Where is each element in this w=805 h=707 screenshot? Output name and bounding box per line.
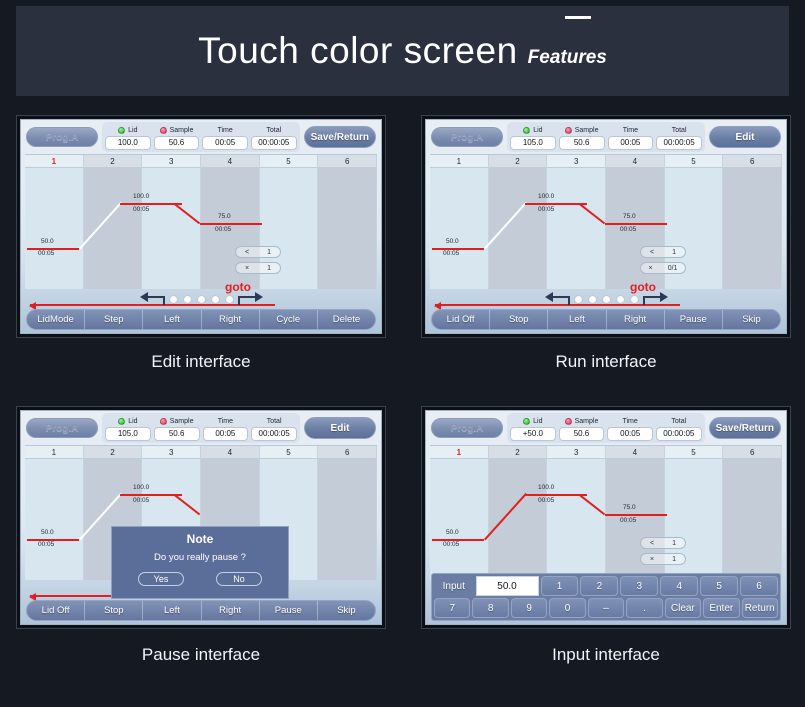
key-2[interactable]: 2	[580, 576, 618, 596]
meter-value[interactable]: 100.0	[105, 136, 151, 150]
meter-total: Total 00:00:05	[251, 416, 297, 441]
meter-label: Lid	[128, 127, 137, 134]
meter-sample: Sample 50.6	[154, 125, 200, 150]
step-column-6[interactable]: 6	[723, 155, 782, 289]
arrow-right-return-icon[interactable]	[238, 292, 264, 306]
page-dot[interactable]	[184, 296, 191, 303]
dialog-message: Do you really pause ?	[154, 552, 246, 563]
step-column-6[interactable]: 6	[723, 446, 782, 580]
edit-button[interactable]: Edit	[709, 126, 781, 148]
meter-sample: Sample 50.6	[559, 125, 605, 150]
step-number: 5	[665, 155, 723, 168]
step-number: 6	[318, 155, 376, 168]
arrow-left-return-icon[interactable]	[544, 292, 570, 306]
step-column-1[interactable]: 1	[25, 155, 84, 289]
meter-label: Total	[266, 127, 281, 134]
device-screen: Prog.A Lid 105.0 Sample 50.6 Time 00:05	[20, 410, 382, 625]
step-number: 3	[547, 446, 605, 459]
step-column-4[interactable]: 4	[606, 446, 665, 580]
arrow-left-return-icon[interactable]	[139, 292, 165, 306]
meter-lid: Lid +50.0	[510, 416, 556, 441]
step-column-4[interactable]: 4	[606, 155, 665, 289]
meter-total: Total 00:00:05	[656, 416, 702, 441]
red-dot-icon	[565, 418, 572, 425]
pager	[426, 291, 786, 307]
step-number: 4	[606, 446, 664, 459]
device-screen: Prog.A Lid +50.0 Sample 50.6 Time 00:05	[425, 410, 787, 625]
step-column-2[interactable]: 2	[84, 155, 143, 289]
device-frame: Prog.A Lid 105.0 Sample 50.6 Time 00:05	[16, 406, 386, 629]
meter-value[interactable]: 50.6	[559, 136, 605, 150]
step-column-5[interactable]: 5	[665, 446, 724, 580]
key-5[interactable]: 5	[700, 576, 738, 596]
step-grid: 1 2 3 4 5 6 50.0 00:05 100.0 00:05	[25, 445, 377, 580]
page-dot[interactable]	[575, 296, 582, 303]
device-frame: Prog.A Lid 100.0 Sample 50.6 Time 00:05	[16, 115, 386, 338]
panel-input: Prog.A Lid +50.0 Sample 50.6 Time 00:05	[421, 406, 791, 629]
meter-group: Lid 100.0 Sample 50.6 Time 00:05 Total 0…	[102, 122, 300, 152]
step-column-3[interactable]: 3	[547, 155, 606, 289]
meter-time: Time 00:05	[607, 416, 653, 441]
page-dots	[170, 296, 233, 303]
top-bar: Prog.A Lid 100.0 Sample 50.6 Time 00:05	[21, 120, 381, 154]
right-button[interactable]: Right	[202, 310, 260, 329]
step-number: 5	[260, 446, 318, 459]
caption-edit: Edit interface	[16, 352, 386, 372]
program-button[interactable]: Prog.A	[431, 418, 503, 438]
key-7[interactable]: 7	[434, 598, 470, 618]
meter-label: Total	[267, 418, 282, 425]
lidmode-button[interactable]: LidMode	[27, 310, 85, 329]
step-column-4[interactable]: 4	[201, 155, 260, 289]
meter-value[interactable]: 00:05	[607, 427, 653, 441]
step-number: 2	[84, 155, 142, 168]
step-column-5[interactable]: 5	[665, 155, 724, 289]
step-column-2[interactable]: 2	[489, 446, 548, 580]
key-return[interactable]: Return	[742, 598, 778, 618]
green-dot-icon	[523, 418, 530, 425]
step-number: 6	[318, 446, 376, 459]
meter-value[interactable]: 00:00:05	[251, 136, 297, 150]
meter-label: Sample	[575, 127, 599, 134]
meter-total: Total 00:00:05	[251, 125, 297, 150]
top-bar: Prog.A Lid 105.0 Sample 50.6 Time 00:05	[426, 120, 786, 154]
meter-value[interactable]: 105.0	[105, 427, 151, 441]
key-3[interactable]: 3	[620, 576, 658, 596]
dialog-yes-button[interactable]: Yes	[138, 572, 184, 586]
key-6[interactable]: 6	[740, 576, 778, 596]
step-grid: 1 2 3 4 5 6 50.0 00:05 100.0 00:05 75.0	[25, 154, 377, 289]
meter-label: Time	[622, 418, 637, 425]
step-number: 3	[547, 155, 605, 168]
meter-label: Total	[671, 418, 686, 425]
page-dots	[575, 296, 638, 303]
top-bar: Prog.A Lid +50.0 Sample 50.6 Time 00:05	[426, 411, 786, 445]
panel-run: Prog.A Lid 105.0 Sample 50.6 Time 00:05	[421, 115, 791, 338]
meter-value[interactable]: 50.6	[154, 427, 200, 441]
step-grid: 1 2 3 4 5 6 50.0 00:05 100.0 00:05 75.0	[430, 445, 782, 580]
meter-label: Time	[218, 418, 233, 425]
right-button[interactable]: Right	[202, 601, 260, 620]
step-number: 6	[723, 155, 781, 168]
edit-button[interactable]: Edit	[304, 417, 376, 439]
meter-sample: Sample 50.6	[559, 416, 605, 441]
meter-label: Sample	[575, 418, 599, 425]
step-column-1[interactable]: 1	[430, 446, 489, 580]
program-button[interactable]: Prog.A	[431, 127, 503, 147]
meter-label: Time	[623, 127, 638, 134]
step-number: 1	[25, 155, 83, 168]
key-clear[interactable]: Clear	[665, 598, 701, 618]
page-title: Touch color screen	[198, 30, 518, 72]
caption-pause: Pause interface	[16, 645, 386, 665]
bottom-button-bar: LidMode Step Left Right Cycle Delete	[26, 309, 376, 330]
skip-button[interactable]: Skip	[723, 310, 780, 329]
step-button[interactable]: Step	[85, 310, 143, 329]
step-number: 4	[201, 446, 259, 459]
step-number: 2	[84, 446, 142, 459]
key-decimal-point[interactable]: .	[626, 598, 662, 618]
page-dot[interactable]	[170, 296, 177, 303]
right-button[interactable]: Right	[607, 310, 665, 329]
step-column-3[interactable]: 3	[142, 155, 201, 289]
input-value-field[interactable]: 50.0	[476, 576, 539, 596]
page-dot[interactable]	[617, 296, 624, 303]
red-dot-icon	[565, 127, 572, 134]
step-column-1[interactable]: 1	[25, 446, 84, 580]
step-column-6[interactable]: 6	[318, 155, 377, 289]
meter-value[interactable]: 00:00:05	[251, 427, 297, 441]
device-screen: Prog.A Lid 100.0 Sample 50.6 Time 00:05	[20, 119, 382, 334]
green-dot-icon	[118, 127, 125, 134]
caption-run: Run interface	[421, 352, 791, 372]
meter-value[interactable]: +50.0	[510, 427, 556, 441]
step-number: 1	[25, 446, 83, 459]
device-frame: Prog.A Lid +50.0 Sample 50.6 Time 00:05	[421, 406, 791, 629]
input-label: Input	[434, 576, 474, 596]
meter-value[interactable]: 50.6	[154, 136, 200, 150]
meter-group: Lid 105.0 Sample 50.6 Time 00:05 Total 0…	[507, 122, 705, 152]
page-dot[interactable]	[589, 296, 596, 303]
key-1[interactable]: 1	[541, 576, 579, 596]
green-dot-icon	[118, 418, 125, 425]
meter-value[interactable]: 00:00:05	[656, 427, 702, 441]
program-button[interactable]: Prog.A	[26, 418, 98, 438]
meter-value[interactable]: 00:05	[608, 136, 654, 150]
meter-lid: Lid 105.0	[105, 416, 151, 441]
pause-button[interactable]: Pause	[665, 310, 723, 329]
step-number: 1	[430, 155, 488, 168]
green-dot-icon	[523, 127, 530, 134]
step-column-2[interactable]: 2	[489, 155, 548, 289]
step-column-6[interactable]: 6	[318, 446, 377, 580]
arrow-right-return-icon[interactable]	[643, 292, 669, 306]
step-number: 4	[201, 155, 259, 168]
numeric-keypad: Input 50.0 1 2 3 4 5 6 7 8 9 0 – . Clear	[431, 573, 781, 621]
step-column-5[interactable]: 5	[260, 155, 319, 289]
lid-off-button[interactable]: Lid Off	[432, 310, 490, 329]
step-number: 3	[142, 155, 200, 168]
meter-label: Sample	[170, 127, 194, 134]
red-dot-icon	[160, 127, 167, 134]
pause-button[interactable]: Pause	[260, 601, 318, 620]
meter-time: Time 00:05	[203, 416, 249, 441]
pager	[21, 291, 381, 307]
stop-button[interactable]: Stop	[85, 601, 143, 620]
meter-value[interactable]: 00:05	[202, 136, 248, 150]
key-8[interactable]: 8	[472, 598, 508, 618]
page-dot[interactable]	[212, 296, 219, 303]
cycle-button[interactable]: Cycle	[260, 310, 318, 329]
page-dot[interactable]	[226, 296, 233, 303]
meter-value[interactable]: 00:05	[203, 427, 249, 441]
meter-time: Time 00:05	[202, 125, 248, 150]
header-banner: Touch color screen Features	[16, 6, 789, 96]
panel-pause: Prog.A Lid 105.0 Sample 50.6 Time 00:05	[16, 406, 386, 629]
note-dialog: Note Do you really pause ? Yes No	[111, 526, 289, 599]
step-number: 4	[606, 155, 664, 168]
save-return-button[interactable]: Save/Return	[709, 417, 781, 439]
step-number: 2	[489, 155, 547, 168]
meter-label: Lid	[533, 127, 542, 134]
keypad-row-1: Input 50.0 1 2 3 4 5 6	[434, 576, 778, 596]
key-enter[interactable]: Enter	[703, 598, 739, 618]
step-number: 5	[260, 155, 318, 168]
page-dot[interactable]	[631, 296, 638, 303]
page-dot[interactable]	[603, 296, 610, 303]
bottom-button-bar: Lid Off Stop Left Right Pause Skip	[26, 600, 376, 621]
meter-value[interactable]: 50.6	[559, 427, 605, 441]
meter-time: Time 00:05	[608, 125, 654, 150]
step-number: 5	[665, 446, 723, 459]
delete-button[interactable]: Delete	[318, 310, 375, 329]
meter-group: Lid +50.0 Sample 50.6 Time 00:05 Total 0…	[507, 413, 705, 443]
caption-input: Input interface	[421, 645, 791, 665]
red-dot-icon	[160, 418, 167, 425]
step-number: 2	[489, 446, 547, 459]
meter-group: Lid 105.0 Sample 50.6 Time 00:05 Total 0…	[102, 413, 300, 443]
lid-off-button[interactable]: Lid Off	[27, 601, 85, 620]
device-screen: Prog.A Lid 105.0 Sample 50.6 Time 00:05	[425, 119, 787, 334]
meter-sample: Sample 50.6	[154, 416, 200, 441]
step-grid: 1 2 3 4 5 6 50.0 00:05 100.0 00:05 75.0	[430, 154, 782, 289]
step-number: 6	[723, 446, 781, 459]
key-9[interactable]: 9	[511, 598, 547, 618]
page-dot[interactable]	[198, 296, 205, 303]
device-frame: Prog.A Lid 105.0 Sample 50.6 Time 00:05	[421, 115, 791, 338]
step-number: 3	[142, 446, 200, 459]
meter-total: Total 00:00:05	[656, 125, 702, 150]
meter-lid: Lid 100.0	[105, 125, 151, 150]
horizontal-dash-icon	[565, 16, 591, 19]
stop-button[interactable]: Stop	[490, 310, 548, 329]
left-button[interactable]: Left	[143, 310, 201, 329]
left-button[interactable]: Left	[548, 310, 606, 329]
meter-lid: Lid 105.0	[510, 125, 556, 150]
step-column-3[interactable]: 3	[547, 446, 606, 580]
skip-button[interactable]: Skip	[318, 601, 375, 620]
meter-label: Time	[217, 127, 232, 134]
panel-edit: Prog.A Lid 100.0 Sample 50.6 Time 00:05	[16, 115, 386, 338]
keypad-row-2: 7 8 9 0 – . Clear Enter Return	[434, 598, 778, 618]
bottom-button-bar: Lid Off Stop Left Right Pause Skip	[431, 309, 781, 330]
dialog-title: Note	[187, 532, 214, 546]
save-return-button[interactable]: Save/Return	[304, 126, 376, 148]
step-number: 1	[430, 446, 488, 459]
key-0[interactable]: 0	[549, 598, 585, 618]
page-subtitle: Features	[528, 47, 607, 69]
meter-value[interactable]: 105.0	[510, 136, 556, 150]
step-column-1[interactable]: 1	[430, 155, 489, 289]
meter-label: Lid	[128, 418, 137, 425]
key-minus[interactable]: –	[588, 598, 624, 618]
program-button[interactable]: Prog.A	[26, 127, 98, 147]
meter-label: Sample	[170, 418, 194, 425]
top-bar: Prog.A Lid 105.0 Sample 50.6 Time 00:05	[21, 411, 381, 445]
dialog-no-button[interactable]: No	[216, 572, 262, 586]
meter-label: Total	[672, 127, 687, 134]
meter-value[interactable]: 00:00:05	[656, 136, 702, 150]
key-4[interactable]: 4	[660, 576, 698, 596]
left-button[interactable]: Left	[143, 601, 201, 620]
meter-label: Lid	[533, 418, 542, 425]
